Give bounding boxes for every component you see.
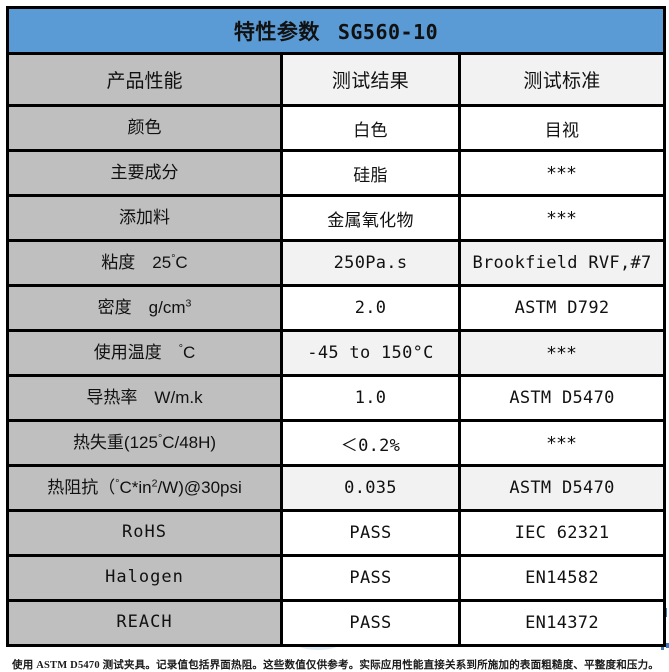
table-row: 密度 g/cm32.0ASTM D792: [8, 286, 665, 331]
test-result-cell: 2.0: [282, 286, 460, 331]
test-result-cell: 金属氧化物: [282, 196, 460, 241]
test-result-cell: 硅脂: [282, 151, 460, 196]
table-row: 导热率 W/m.k1.0ASTM D5470: [8, 376, 665, 421]
table-row: 热阻抗（°C*in2/W)@30psi0.035ASTM D5470: [8, 466, 665, 511]
product-spec-sheet: 特性参数SG560-10 产品性能 测试结果 测试标准 颜色白色目视主要成分硅脂…: [0, 0, 669, 662]
header-property: 产品性能: [8, 54, 282, 106]
test-result-cell: 白色: [282, 106, 460, 151]
property-name-cell: 热失重(125°C/48H): [8, 421, 282, 466]
table-row: HalogenPASSEN14582: [8, 556, 665, 601]
table-row: 热失重(125°C/48H)＜0.2%***: [8, 421, 665, 466]
test-standard-cell: ASTM D5470: [460, 466, 665, 511]
test-standard-cell: ***: [460, 331, 665, 376]
property-name-cell: 热阻抗（°C*in2/W)@30psi: [8, 466, 282, 511]
property-name-cell: 密度 g/cm3: [8, 286, 282, 331]
test-standard-cell: ***: [460, 196, 665, 241]
table-row: REACHPASSEN14372: [8, 601, 665, 646]
property-name-cell: 主要成分: [8, 151, 282, 196]
property-name-cell: REACH: [8, 601, 282, 646]
table-row: 使用温度 °C-45 to 150°C***: [8, 331, 665, 376]
property-name-cell: 颜色: [8, 106, 282, 151]
test-result-cell: PASS: [282, 556, 460, 601]
table-row: 颜色白色目视: [8, 106, 665, 151]
property-name-cell: 添加料: [8, 196, 282, 241]
test-result-cell: ＜0.2%: [282, 421, 460, 466]
test-standard-cell: EN14372: [460, 601, 665, 646]
sheet-title: 特性参数SG560-10: [8, 8, 665, 54]
test-standard-cell: ***: [460, 151, 665, 196]
test-standard-cell: ***: [460, 421, 665, 466]
property-name-cell: 使用温度 °C: [8, 331, 282, 376]
test-result-cell: 0.035: [282, 466, 460, 511]
header-standard: 测试标准: [460, 54, 665, 106]
table-row: RoHSPASSIEC 62321: [8, 511, 665, 556]
table-row: 粘度 25°C250Pa.sBrookfield RVF,#7: [8, 241, 665, 286]
test-result-cell: PASS: [282, 511, 460, 556]
table-row: 添加料金属氧化物***: [8, 196, 665, 241]
test-standard-cell: ASTM D792: [460, 286, 665, 331]
table-row: 主要成分硅脂***: [8, 151, 665, 196]
model-number: SG560-10: [338, 20, 438, 44]
property-name-cell: Halogen: [8, 556, 282, 601]
property-name-cell: 粘度 25°C: [8, 241, 282, 286]
test-standard-cell: IEC 62321: [460, 511, 665, 556]
title-row: 特性参数SG560-10: [8, 8, 665, 54]
test-standard-cell: 目视: [460, 106, 665, 151]
test-standard-cell: Brookfield RVF,#7: [460, 241, 665, 286]
table-body: 特性参数SG560-10 产品性能 测试结果 测试标准 颜色白色目视主要成分硅脂…: [8, 8, 665, 646]
test-result-cell: 250Pa.s: [282, 241, 460, 286]
property-name-cell: RoHS: [8, 511, 282, 556]
property-name-cell: 导热率 W/m.k: [8, 376, 282, 421]
test-result-cell: PASS: [282, 601, 460, 646]
test-standard-cell: EN14582: [460, 556, 665, 601]
column-header-row: 产品性能 测试结果 测试标准: [8, 54, 665, 106]
test-result-cell: 1.0: [282, 376, 460, 421]
header-result: 测试结果: [282, 54, 460, 106]
footnote-text: 使用 ASTM D5470 测试夹具。记录值包括界面热阻。这些数值仅供参考。实际…: [6, 657, 663, 672]
test-result-cell: -45 to 150°C: [282, 331, 460, 376]
title-text: 特性参数: [234, 21, 320, 44]
test-standard-cell: ASTM D5470: [460, 376, 665, 421]
specification-table: 特性参数SG560-10 产品性能 测试结果 测试标准 颜色白色目视主要成分硅脂…: [6, 6, 666, 647]
